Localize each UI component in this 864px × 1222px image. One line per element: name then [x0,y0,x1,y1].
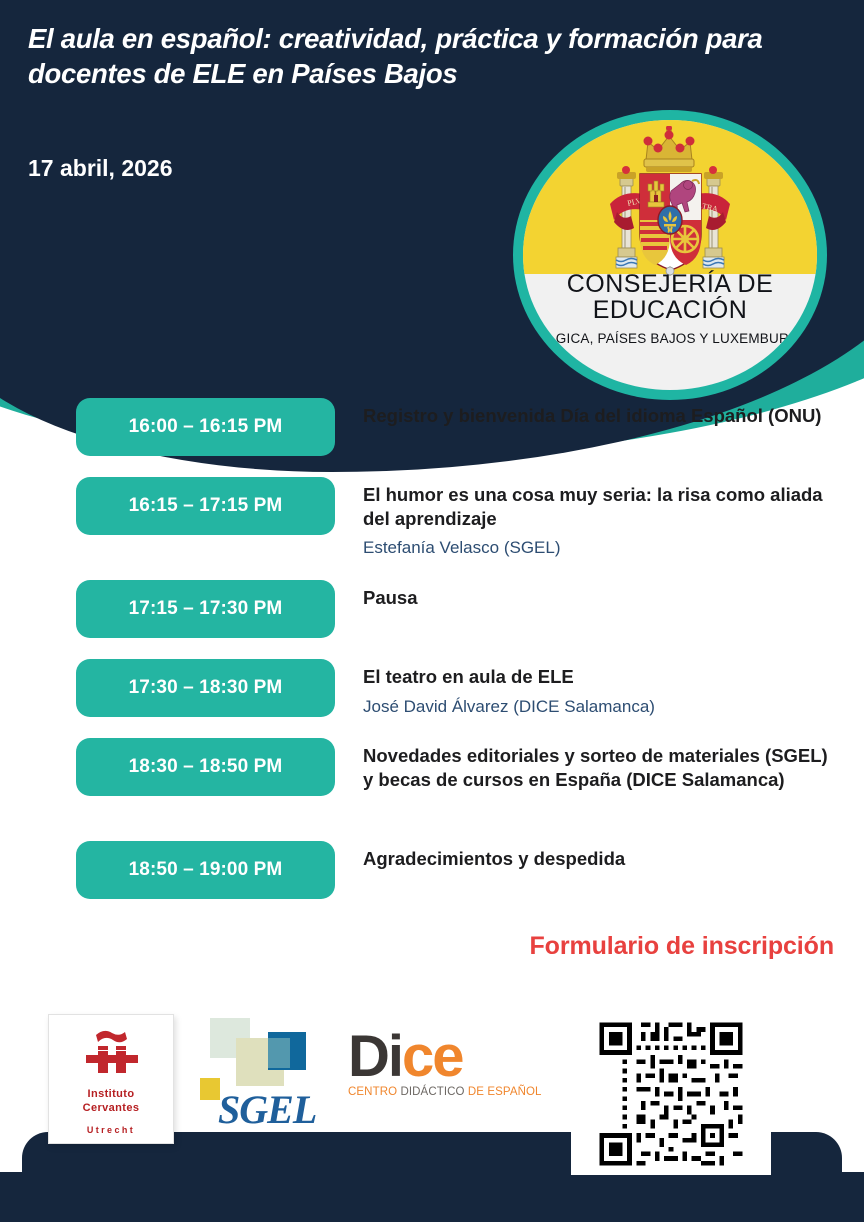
session-title: Novedades editoriales y sorteo de materi… [363,744,834,791]
cervantes-city: Utrecht [49,1125,173,1135]
consejeria-badge: PLVS VLTRA [513,110,827,400]
session-speaker: José David Álvarez (DICE Salamanca) [363,696,834,718]
schedule-list: 16:00 – 16:15 PM Registro y bienvenida D… [0,398,864,920]
session-speaker: Estefanía Velasco (SGEL) [363,537,834,559]
dice-tagline-2: DIDÁCTICO [400,1086,464,1098]
time-pill: 17:30 – 18:30 PM [76,659,335,717]
sgel-logo: SGEL [196,1006,336,1146]
session-desc: Pausa [363,580,864,610]
dice-tagline-3: DE ESPAÑOL [465,1086,542,1098]
session-desc: Novedades editoriales y sorteo de materi… [363,738,864,791]
session-desc: Agradecimientos y despedida [363,841,864,871]
schedule-row: 17:15 – 17:30 PM Pausa [0,580,864,640]
dice-logo: Dice CENTRO DIDÁCTICO DE ESPAÑOL [348,1030,538,1140]
dice-word-dark: Di [348,1024,402,1089]
schedule-row: 17:30 – 18:30 PM El teatro en aula de EL… [0,659,864,719]
badge-subtitle: BÉLGICA, PAÍSES BAJOS Y LUXEMBURGO [523,331,817,347]
session-desc: El humor es una cosa muy seria: la risa … [363,477,864,559]
time-pill: 17:15 – 17:30 PM [76,580,335,638]
page-title: El aula en español: creatividad, práctic… [28,22,846,91]
schedule-row: 16:15 – 17:15 PM El humor es una cosa mu… [0,477,864,561]
qr-code-panel[interactable] [571,1012,771,1175]
schedule-row: 18:50 – 19:00 PM Agradecimientos y despe… [0,841,864,901]
time-pill: 18:30 – 18:50 PM [76,738,335,796]
registration-qr-code-icon[interactable] [595,1018,747,1170]
badge-title: CONSEJERÍA DE EDUCACIÓN [523,271,817,324]
dice-tagline: CENTRO DIDÁCTICO DE ESPAÑOL [348,1086,538,1098]
cervantes-name: Instituto Cervantes [49,1087,173,1115]
dice-tagline-1: CENTRO [348,1086,400,1098]
badge-text: CONSEJERÍA DE EDUCACIÓN BÉLGICA, PAÍSES … [523,271,817,347]
instituto-cervantes-logo: Instituto Cervantes Utrecht [48,1014,174,1144]
time-pill: 16:00 – 16:15 PM [76,398,335,456]
spain-coat-of-arms-icon: PLVS VLTRA [588,126,752,284]
time-pill: 18:50 – 19:00 PM [76,841,335,899]
session-desc: Registro y bienvenida Día del idioma Esp… [363,398,864,428]
session-title: Registro y bienvenida Día del idioma Esp… [363,404,834,428]
badge-inner: PLVS VLTRA [523,120,817,390]
sgel-square-5 [200,1078,220,1100]
session-desc: El teatro en aula de ELE José David Álva… [363,659,864,718]
dice-wordmark: Dice [348,1030,538,1083]
dice-word-orange: ce [402,1024,463,1089]
cervantes-mark-icon [76,1029,146,1077]
session-title: El teatro en aula de ELE [363,665,834,689]
session-title: Pausa [363,586,834,610]
registration-form-label[interactable]: Formulario de inscripción [530,932,835,961]
cervantes-name-line2: Cervantes [49,1101,173,1115]
session-title: El humor es una cosa muy seria: la risa … [363,483,834,530]
sgel-wordmark: SGEL [218,1086,316,1133]
event-date: 17 abril, 2026 [28,155,173,182]
schedule-row: 16:00 – 16:15 PM Registro y bienvenida D… [0,398,864,458]
schedule-row: 18:30 – 18:50 PM Novedades editoriales y… [0,738,864,822]
event-poster: El aula en español: creatividad, práctic… [0,0,864,1222]
time-pill: 16:15 – 17:15 PM [76,477,335,535]
session-title: Agradecimientos y despedida [363,847,834,871]
footer-navy-bar [0,1172,864,1222]
sgel-square-4 [268,1038,290,1068]
cervantes-name-line1: Instituto [49,1087,173,1101]
